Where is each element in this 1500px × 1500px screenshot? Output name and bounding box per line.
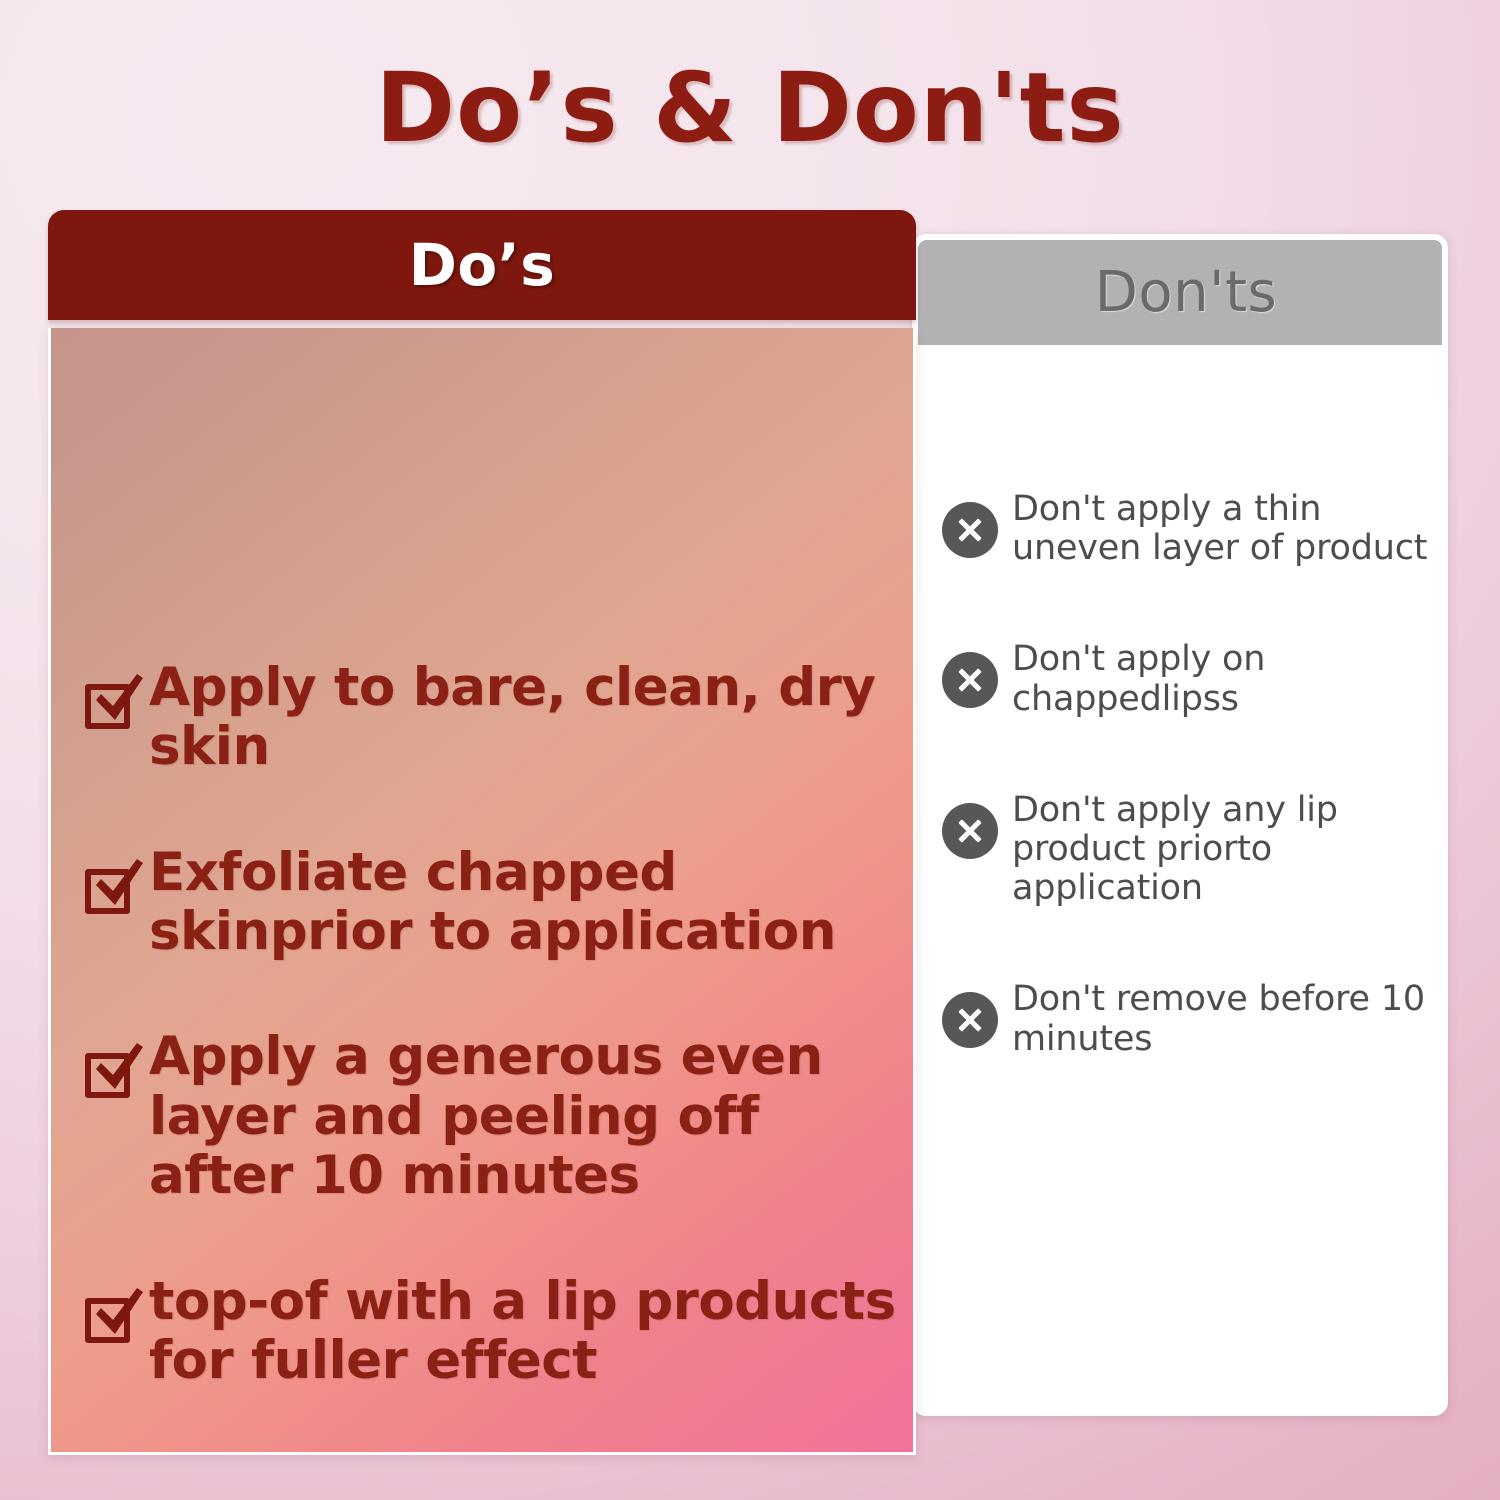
page-title: Do’s & Don'ts [0, 52, 1500, 164]
list-item: Apply to bare, clean, dry skin [81, 658, 901, 777]
list-item: Exfoliate chapped skinprior to applicati… [81, 843, 901, 962]
circle-x-icon [942, 803, 998, 859]
list-item: Don't apply any lip product priorto appl… [942, 791, 1442, 909]
dos-item-label: Exfoliate chapped skinprior to applicati… [149, 843, 901, 962]
dos-item-label: top-of with a lip products for fuller ef… [149, 1272, 901, 1391]
donts-panel: Don'ts Don't apply a thin uneven layer o… [912, 234, 1448, 1416]
dos-item-label: Apply a generous even layer and peeling … [149, 1027, 901, 1205]
dos-list: Apply to bare, clean, dry skin Exfoliate… [81, 658, 901, 1456]
checkbox-check-icon [81, 1284, 145, 1346]
donts-panel-header-label: Don'ts [1095, 260, 1277, 325]
list-item: top-of with a lip products for fuller ef… [81, 1272, 901, 1391]
dos-panel-header-label: Do’s [409, 231, 556, 299]
checkbox-check-icon [81, 670, 145, 732]
circle-x-icon [942, 652, 998, 708]
dos-panel-header: Do’s [48, 210, 916, 320]
dos-panel: Do’s Apply to bare, clean, dry skin [48, 210, 916, 1455]
dos-item-label: Apply to bare, clean, dry skin [149, 658, 901, 777]
donts-panel-header: Don'ts [918, 240, 1448, 345]
donts-list: Don't apply a thin uneven layer of produ… [942, 490, 1442, 1131]
checkbox-check-icon [81, 1039, 145, 1101]
donts-item-label: Don't apply a thin uneven layer of produ… [1012, 490, 1442, 568]
checkbox-check-icon [81, 855, 145, 917]
list-item: Don't apply on chappedlipss [942, 640, 1442, 718]
list-item: Don't remove before 10 minutes [942, 980, 1442, 1058]
donts-item-label: Don't apply on chappedlipss [1012, 640, 1442, 718]
dos-panel-body: Apply to bare, clean, dry skin Exfoliate… [48, 328, 916, 1455]
list-item: Don't apply a thin uneven layer of produ… [942, 490, 1442, 568]
donts-item-label: Don't apply any lip product priorto appl… [1012, 791, 1442, 909]
circle-x-icon [942, 502, 998, 558]
list-item: Apply a generous even layer and peeling … [81, 1027, 901, 1205]
circle-x-icon [942, 992, 998, 1048]
donts-item-label: Don't remove before 10 minutes [1012, 980, 1442, 1058]
